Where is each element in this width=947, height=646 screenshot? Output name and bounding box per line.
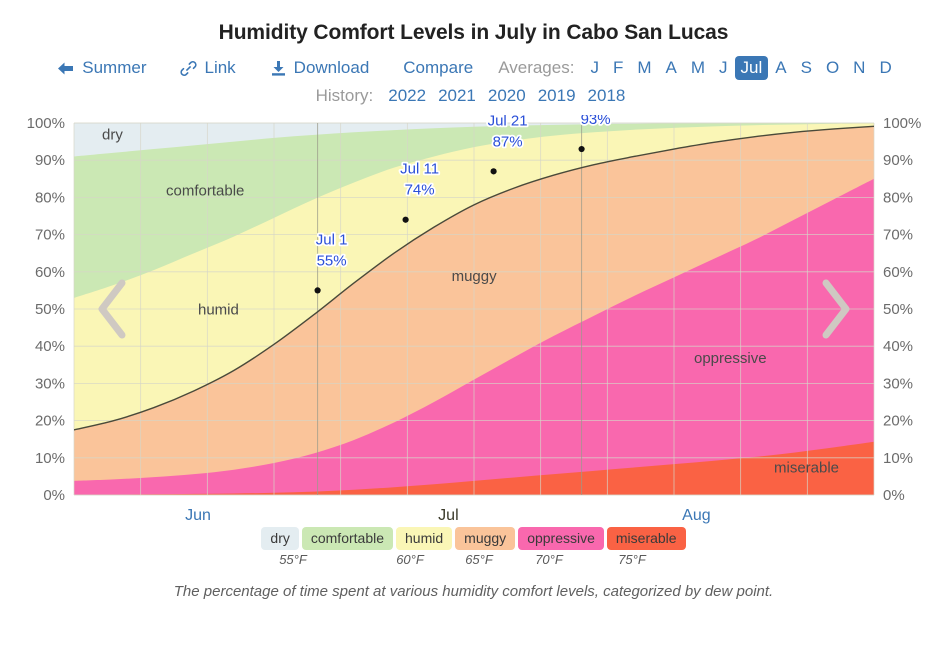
y-axis-label-right-80: 80%: [883, 189, 913, 206]
month-j-0[interactable]: J: [583, 57, 606, 79]
nav-download-label: Download: [294, 58, 370, 78]
y-axis-label-right-10: 10%: [883, 450, 913, 467]
month-jul-6[interactable]: Jul: [735, 56, 769, 80]
history-year-2018[interactable]: 2018: [582, 86, 632, 105]
x-axis-month-Jun[interactable]: Jun: [185, 507, 211, 524]
history-year-2020[interactable]: 2020: [482, 86, 532, 105]
nav-download[interactable]: Download: [253, 58, 387, 78]
month-a-3[interactable]: A: [659, 57, 684, 79]
weather-chart-page: Humidity Comfort Levels in July in Cabo …: [0, 0, 947, 646]
history-year-2019[interactable]: 2019: [532, 86, 582, 105]
band-label-miserable: miserable: [774, 460, 839, 477]
band-label-oppressive: oppressive: [694, 350, 767, 367]
month-j-5[interactable]: J: [712, 57, 735, 79]
dew-point-tick-70F: 70°F: [535, 552, 563, 567]
data-point-2: [491, 168, 497, 174]
chart-container: 0%0%10%10%20%20%30%30%40%40%50%50%60%60%…: [0, 115, 947, 525]
band-label-humid: humid: [198, 302, 239, 319]
arrow-left-icon: [56, 61, 75, 76]
toolbar: Summer Link Download Compare Averages: J…: [0, 56, 947, 80]
y-axis-label-left-90: 90%: [35, 152, 65, 169]
history-years: 20222021202020192018: [382, 86, 631, 106]
dew-point-tick-75F: 75°F: [618, 552, 646, 567]
y-axis-label-right-100: 100%: [883, 115, 921, 132]
y-axis-label-right-0: 0%: [883, 487, 905, 504]
legend-swatch-dry[interactable]: dry: [261, 527, 298, 550]
y-axis-label-right-20: 20%: [883, 413, 913, 430]
dew-point-tick-60F: 60°F: [396, 552, 424, 567]
legend-swatch-humid[interactable]: humid: [396, 527, 452, 550]
y-axis-label-left-30: 30%: [35, 375, 65, 392]
nav-link-label: Link: [204, 58, 235, 78]
month-f-1[interactable]: F: [606, 57, 630, 79]
month-d-11[interactable]: D: [872, 57, 898, 79]
legend-swatch-muggy[interactable]: muggy: [455, 527, 515, 550]
legend-container: drycomfortablehumidmuggyoppressivemisera…: [0, 527, 947, 572]
history-row: History: 20222021202020192018: [0, 86, 947, 106]
month-s-8[interactable]: S: [794, 57, 819, 79]
nav-summer-label: Summer: [82, 58, 146, 78]
page-title: Humidity Comfort Levels in July in Cabo …: [0, 0, 947, 45]
month-m-4[interactable]: M: [684, 57, 712, 79]
nav-summer[interactable]: Summer: [48, 58, 163, 78]
y-axis-label-left-0: 0%: [43, 487, 65, 504]
data-point-0: [315, 287, 321, 293]
y-axis-label-right-90: 90%: [883, 152, 913, 169]
x-axis-month-Aug[interactable]: Aug: [682, 507, 710, 524]
y-axis-label-left-10: 10%: [35, 450, 65, 467]
dew-point-tick-65F: 65°F: [465, 552, 493, 567]
y-axis-label-left-50: 50%: [35, 301, 65, 318]
y-axis-label-right-60: 60%: [883, 264, 913, 281]
annotation-date-0: Jul 1: [316, 231, 348, 248]
month-a-7[interactable]: A: [768, 57, 793, 79]
y-axis-label-left-70: 70%: [35, 227, 65, 244]
y-axis-label-right-40: 40%: [883, 338, 913, 355]
download-icon: [270, 60, 287, 77]
month-o-9[interactable]: O: [819, 57, 846, 79]
month-m-2[interactable]: M: [630, 57, 658, 79]
chart-caption: The percentage of time spent at various …: [0, 583, 947, 600]
history-label: History:: [316, 86, 374, 106]
nav-link[interactable]: Link: [163, 58, 252, 78]
annotation-value-0: 55%: [317, 252, 347, 269]
band-label-dry: dry: [102, 127, 123, 144]
y-axis-label-left-100: 100%: [27, 115, 65, 132]
annotation-date-2: Jul 21: [488, 115, 528, 129]
nav-compare-label: Compare: [403, 58, 473, 78]
band-label-comfortable: comfortable: [166, 183, 244, 200]
y-axis-label-right-70: 70%: [883, 227, 913, 244]
legend-swatch-comfortable[interactable]: comfortable: [302, 527, 393, 550]
nav-compare[interactable]: Compare: [386, 58, 490, 78]
y-axis-label-left-40: 40%: [35, 338, 65, 355]
annotation-value-2: 87%: [493, 133, 523, 150]
history-year-2021[interactable]: 2021: [432, 86, 482, 105]
dew-point-ticks: 55°F60°F65°F70°F75°F: [0, 552, 947, 572]
legend-swatch-miserable[interactable]: miserable: [607, 527, 686, 550]
month-selector: JFMAMJJulASOND: [583, 56, 898, 80]
data-point-3: [579, 146, 585, 152]
month-n-10[interactable]: N: [846, 57, 872, 79]
comfort-legend: drycomfortablehumidmuggyoppressivemisera…: [0, 527, 947, 550]
chain-link-icon: [180, 60, 197, 77]
legend-swatch-oppressive[interactable]: oppressive: [518, 527, 604, 550]
history-year-2022[interactable]: 2022: [382, 86, 432, 105]
y-axis-label-left-20: 20%: [35, 413, 65, 430]
humidity-area-chart: 0%0%10%10%20%20%30%30%40%40%50%50%60%60%…: [0, 115, 947, 525]
annotation-value-3: 93%: [581, 115, 611, 128]
annotation-date-1: Jul 11: [400, 161, 439, 178]
x-axis: JunJulAug: [185, 507, 711, 524]
data-point-1: [403, 217, 409, 223]
y-axis-label-right-30: 30%: [883, 375, 913, 392]
annotation-value-1: 74%: [405, 182, 435, 199]
y-axis-label-left-80: 80%: [35, 189, 65, 206]
averages-label: Averages:: [498, 58, 574, 78]
y-axis-label-left-60: 60%: [35, 264, 65, 281]
x-axis-month-Jul: Jul: [438, 507, 458, 524]
y-axis-label-right-50: 50%: [883, 301, 913, 318]
band-label-muggy: muggy: [452, 268, 498, 285]
dew-point-tick-55F: 55°F: [279, 552, 307, 567]
